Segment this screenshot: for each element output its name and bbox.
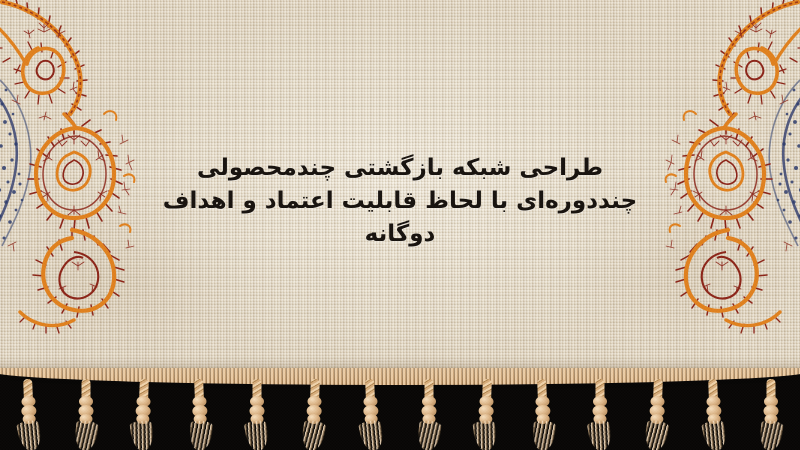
tassel-skirt — [300, 419, 327, 450]
tassel-skirt — [587, 419, 613, 450]
tassel-skirt — [244, 419, 270, 450]
fringe-tassel — [587, 379, 613, 450]
tassel-skirt — [16, 419, 43, 450]
title-line-2: چنددوره‌ای با لحاظ قابلیت اعتماد و اهداف — [0, 185, 800, 218]
fringe-tassel — [416, 379, 442, 450]
tassel-skirt — [416, 420, 441, 450]
tassel-skirt — [759, 420, 784, 450]
fringe-tassel — [700, 379, 729, 450]
tassel-skirt — [643, 419, 670, 450]
fringe-tassel — [128, 379, 157, 450]
fringe-tassel — [300, 379, 329, 450]
tassel-skirt — [129, 420, 154, 450]
title-line-1: طراحی شبکه بازگشتی چندمحصولی — [0, 152, 800, 185]
slide-title: طراحی شبکه بازگشتی چندمحصولی چنددوره‌ای … — [0, 152, 800, 251]
tassel-skirt — [359, 419, 386, 450]
fringe-tassel-row — [0, 379, 800, 450]
tassel-skirt — [189, 420, 213, 450]
tassel-skirt — [701, 419, 728, 450]
fringe-tassel — [528, 379, 557, 450]
tasseled-fringe-border — [0, 368, 800, 450]
fringe-tassel — [186, 379, 215, 450]
tassel-skirt — [531, 420, 555, 450]
fringe-tassel — [643, 379, 672, 450]
title-line-3: دوگانه — [0, 218, 800, 251]
fringe-tassel — [73, 379, 99, 450]
fringe-tassel — [244, 379, 270, 450]
tassel-skirt — [472, 420, 497, 450]
presentation-slide: طراحی شبکه بازگشتی چندمحصولی چنددوره‌ای … — [0, 0, 800, 450]
fringe-tassel — [14, 379, 43, 450]
tassel-skirt — [73, 420, 98, 450]
fringe-tassel — [357, 379, 386, 450]
fringe-tassel — [471, 379, 500, 450]
fringe-tassel — [758, 379, 784, 450]
